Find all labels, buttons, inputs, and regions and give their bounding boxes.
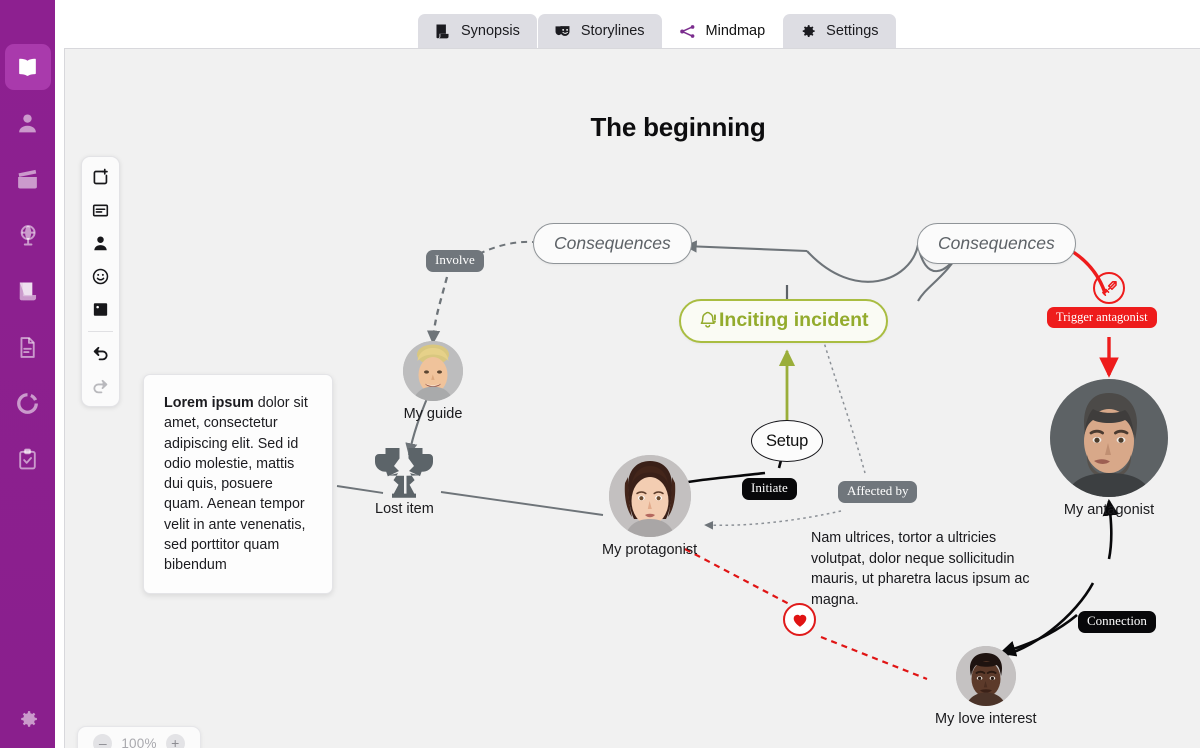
- tab-synopsis[interactable]: Synopsis: [418, 14, 537, 48]
- node-consequences-left[interactable]: Consequences: [533, 223, 692, 264]
- node-setup[interactable]: Setup: [751, 420, 823, 462]
- note-bold-lead: Lorem ipsum: [164, 395, 254, 411]
- add-note-icon[interactable]: [87, 197, 114, 224]
- node-label: Consequences: [917, 223, 1076, 264]
- edge-label-initiate[interactable]: Initiate: [742, 478, 797, 500]
- sidebar-item-scenes[interactable]: [5, 156, 51, 202]
- sidebar-item-tasks[interactable]: [5, 436, 51, 482]
- clapperboard-icon: [15, 167, 40, 192]
- tab-label: Storylines: [581, 23, 645, 39]
- add-emoji-icon[interactable]: [87, 263, 114, 290]
- node-inciting-incident[interactable]: Inciting incident: [679, 299, 888, 343]
- tab-settings[interactable]: Settings: [783, 14, 895, 48]
- sidebar-item-notes[interactable]: [5, 324, 51, 370]
- sidebar-item-statistics[interactable]: [5, 380, 51, 426]
- zoom-in-button[interactable]: +: [166, 734, 185, 748]
- top-bar: Synopsis Storylines: [55, 0, 1200, 48]
- masks-icon: [553, 22, 572, 41]
- avatar: [403, 341, 463, 401]
- zoom-level-value: 100%: [121, 736, 156, 748]
- avatar: [609, 455, 691, 537]
- sidebar-item-world[interactable]: [5, 212, 51, 258]
- node-label: My antagonist: [1064, 502, 1154, 518]
- edge-label-involve[interactable]: Involve: [426, 250, 484, 272]
- free-text-block[interactable]: Nam ultrices, tortor a ultricies volutpa…: [811, 528, 1043, 611]
- zoom-out-button[interactable]: –: [93, 734, 112, 748]
- redo-icon[interactable]: [87, 373, 114, 400]
- edge-label-affected-by[interactable]: Affected by: [838, 481, 917, 503]
- person-icon: [15, 111, 40, 136]
- inciting-incident-box: Inciting incident: [679, 299, 888, 343]
- chip-label: Involve: [426, 250, 484, 272]
- node-consequences-right[interactable]: Consequences: [917, 223, 1076, 264]
- node-label: Setup: [751, 420, 823, 462]
- add-character-icon[interactable]: [87, 230, 114, 257]
- node-lost-item[interactable]: Lost item: [375, 445, 434, 517]
- tab-label: Settings: [826, 23, 878, 39]
- sword-icon: [1100, 279, 1119, 298]
- globe-icon: [15, 223, 40, 248]
- node-my-guide[interactable]: My guide: [403, 341, 463, 422]
- zoom-control[interactable]: – 100% +: [77, 726, 201, 748]
- mindmap-title[interactable]: The beginning: [518, 112, 838, 143]
- sidebar-item-characters[interactable]: [5, 100, 51, 146]
- scroll-icon: [15, 279, 40, 304]
- chip-label: Connection: [1078, 611, 1156, 633]
- node-my-protagonist[interactable]: My protagonist: [602, 455, 697, 558]
- tab-strip: Synopsis Storylines: [418, 14, 896, 48]
- undo-icon[interactable]: [87, 340, 114, 367]
- edge-label-trigger-antagonist[interactable]: Trigger antagonist: [1047, 307, 1157, 328]
- node-label: My guide: [404, 406, 463, 422]
- node-my-antagonist[interactable]: My antagonist: [1050, 379, 1168, 518]
- tab-mindmap[interactable]: Mindmap: [663, 14, 783, 48]
- mindmap-canvas[interactable]: – 100% + The beginning Consequences Cons…: [64, 48, 1200, 748]
- tab-label: Mindmap: [706, 23, 766, 39]
- document-icon: [15, 335, 40, 360]
- node-label: Inciting incident: [719, 309, 869, 332]
- avatar: [1050, 379, 1168, 497]
- node-label: Consequences: [533, 223, 692, 264]
- bell-alert-icon: [698, 311, 717, 330]
- heart-icon: [791, 611, 809, 629]
- app-root: Synopsis Storylines: [0, 0, 1200, 748]
- donut-chart-icon: [15, 391, 40, 416]
- heart-marker[interactable]: [783, 603, 816, 636]
- add-image-icon[interactable]: [87, 296, 114, 323]
- tab-label: Synopsis: [461, 23, 520, 39]
- primary-sidebar: [0, 0, 55, 748]
- sidebar-item-settings[interactable]: [5, 696, 51, 742]
- chip-label: Trigger antagonist: [1047, 307, 1157, 328]
- gear-icon: [15, 707, 40, 732]
- gear-icon: [798, 22, 817, 41]
- broken-trophy-icon: [375, 445, 433, 499]
- chip-label: Affected by: [838, 481, 917, 503]
- sword-marker[interactable]: [1093, 272, 1125, 304]
- clipboard-check-icon: [15, 447, 40, 472]
- mindmap-icon: [678, 22, 697, 41]
- sidebar-item-synopsis[interactable]: [5, 268, 51, 314]
- note-body: dolor sit amet, consectetur adipiscing e…: [164, 395, 308, 573]
- node-label: Lost item: [375, 501, 434, 517]
- node-label: My love interest: [935, 711, 1037, 727]
- scroll-icon: [433, 22, 452, 41]
- chip-label: Initiate: [742, 478, 797, 500]
- add-node-icon[interactable]: [87, 164, 114, 191]
- avatar: [956, 646, 1016, 706]
- note-card[interactable]: Lorem ipsum dolor sit amet, consectetur …: [143, 374, 333, 594]
- node-my-love-interest[interactable]: My love interest: [935, 646, 1037, 727]
- tab-storylines[interactable]: Storylines: [538, 14, 662, 48]
- canvas-toolbar: [81, 156, 120, 407]
- toolbar-divider: [88, 331, 113, 332]
- edge-label-connection[interactable]: Connection: [1078, 611, 1156, 633]
- book-icon: [15, 55, 40, 80]
- node-label: My protagonist: [602, 542, 697, 558]
- sidebar-item-book[interactable]: [5, 44, 51, 90]
